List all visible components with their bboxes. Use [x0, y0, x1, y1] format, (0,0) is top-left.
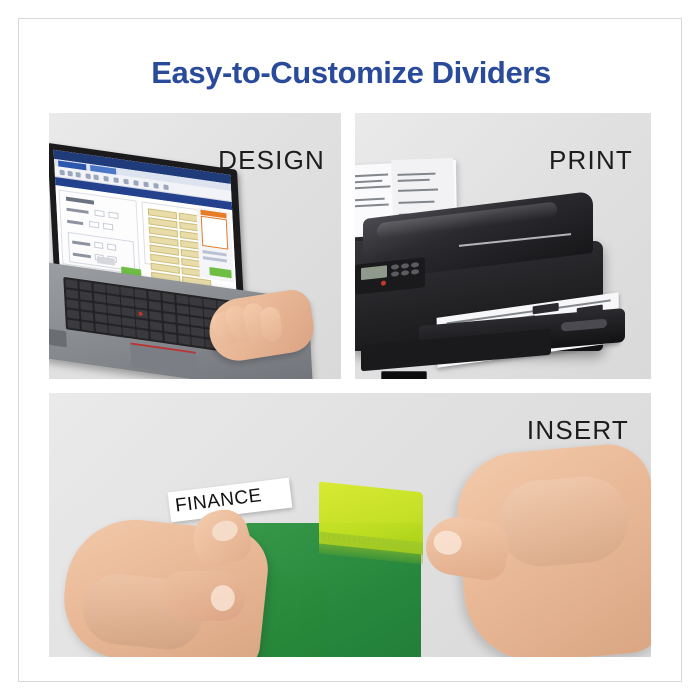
laptop-touchpad [130, 342, 197, 376]
form-heading [66, 197, 94, 205]
right-hand [452, 441, 651, 657]
form-field-label [67, 220, 83, 225]
page-frame: Easy-to-Customize Dividers [18, 18, 682, 682]
form-field-input [94, 210, 104, 217]
panel-label-insert: INSERT [527, 415, 629, 446]
hand-shading [495, 473, 632, 570]
panel-insert: FINANCE INSERT [49, 393, 651, 657]
panel-print: PRINT [355, 113, 651, 379]
left-hand [58, 513, 272, 657]
hand-on-keyboard [193, 277, 313, 373]
form-field-input [107, 243, 116, 250]
selected-label-highlight [201, 216, 229, 250]
panel-label-design: DESIGN [218, 145, 325, 176]
form-field-input [89, 221, 99, 228]
form-subsection [68, 232, 135, 272]
plastic-divider [245, 493, 435, 657]
printer-button-pad [391, 262, 419, 285]
printer-illustration [355, 169, 641, 379]
panel-design: DESIGN [49, 113, 341, 379]
form-field-input [108, 212, 118, 219]
printer-power-indicator [381, 280, 386, 286]
panel-label-print: PRINT [549, 145, 633, 176]
form-field-input [103, 223, 113, 230]
laptop-illustration [49, 155, 333, 379]
trackpoint-nub [138, 312, 142, 317]
form-field-input [94, 242, 103, 249]
tray-handle [561, 319, 607, 332]
form-field-label [66, 208, 88, 214]
printer-lcd-screen [361, 265, 387, 280]
screen-form-pane [59, 190, 141, 276]
side-panel-row [203, 256, 227, 262]
page-title: Easy-to-Customize Dividers [19, 55, 683, 91]
laptop-port [49, 329, 67, 348]
printer-cartridge-slot [381, 371, 427, 379]
side-panel-row [202, 250, 226, 256]
